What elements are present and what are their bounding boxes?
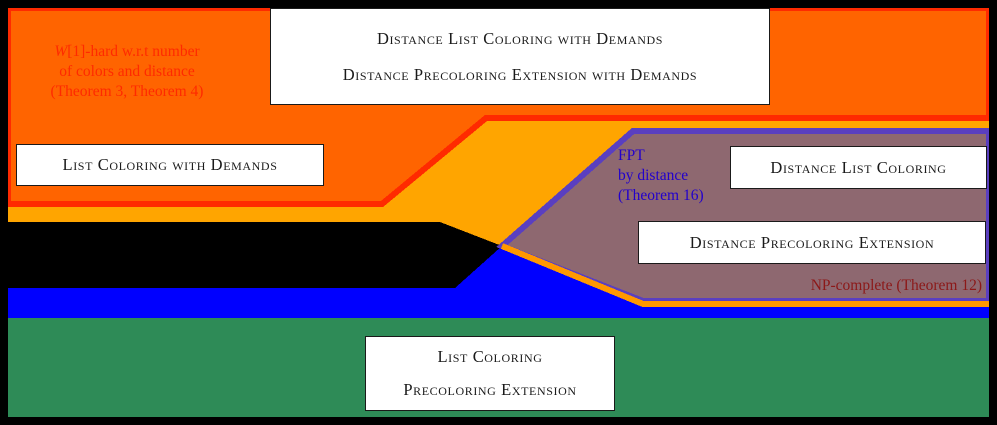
distance-precoloring-extension-label: Distance Precoloring Extension	[690, 233, 934, 253]
fpt-line-1: FPT	[618, 146, 704, 166]
np-complete-annotation: NP-complete (Theorem 12)	[738, 276, 982, 296]
distance-list-coloring-label: Distance List Coloring	[770, 158, 946, 178]
w1-hard-line-3: (Theorem 3, Theorem 4)	[22, 82, 232, 102]
list-coloring-label: List Coloring	[437, 347, 542, 367]
w1-hard-line-1: W[1]-hard w.r.t number	[22, 42, 232, 62]
basic-problems-box[interactable]: List Coloring Precoloring Extension	[365, 336, 615, 411]
distance-list-coloring-box[interactable]: Distance List Coloring	[730, 146, 987, 189]
w1-hard-line-2: of colors and distance	[22, 62, 232, 82]
list-coloring-with-demands-box[interactable]: List Coloring with Demands	[16, 144, 324, 186]
w1-hard-math-symbol: W	[54, 43, 67, 60]
fpt-line-2: by distance	[618, 166, 704, 186]
fpt-annotation: FPT by distance (Theorem 16)	[618, 146, 704, 205]
distance-list-coloring-with-demands-label: Distance List Coloring with Demands	[377, 29, 663, 49]
fpt-line-3: (Theorem 16)	[618, 186, 704, 206]
black-region	[8, 222, 502, 288]
w1-hard-annotation: W[1]-hard w.r.t number of colors and dis…	[22, 42, 232, 101]
w1-hard-line-1-rest: [1]-hard w.r.t number	[67, 43, 199, 60]
distance-with-demands-box[interactable]: Distance List Coloring with Demands Dist…	[270, 8, 770, 105]
distance-precoloring-extension-box[interactable]: Distance Precoloring Extension	[638, 221, 986, 264]
precoloring-extension-label: Precoloring Extension	[403, 380, 576, 400]
list-coloring-with-demands-label: List Coloring with Demands	[63, 155, 278, 175]
distance-precoloring-extension-with-demands-label: Distance Precoloring Extension with Dema…	[343, 65, 697, 85]
complexity-diagram: W[1]-hard w.r.t number of colors and dis…	[0, 0, 997, 425]
